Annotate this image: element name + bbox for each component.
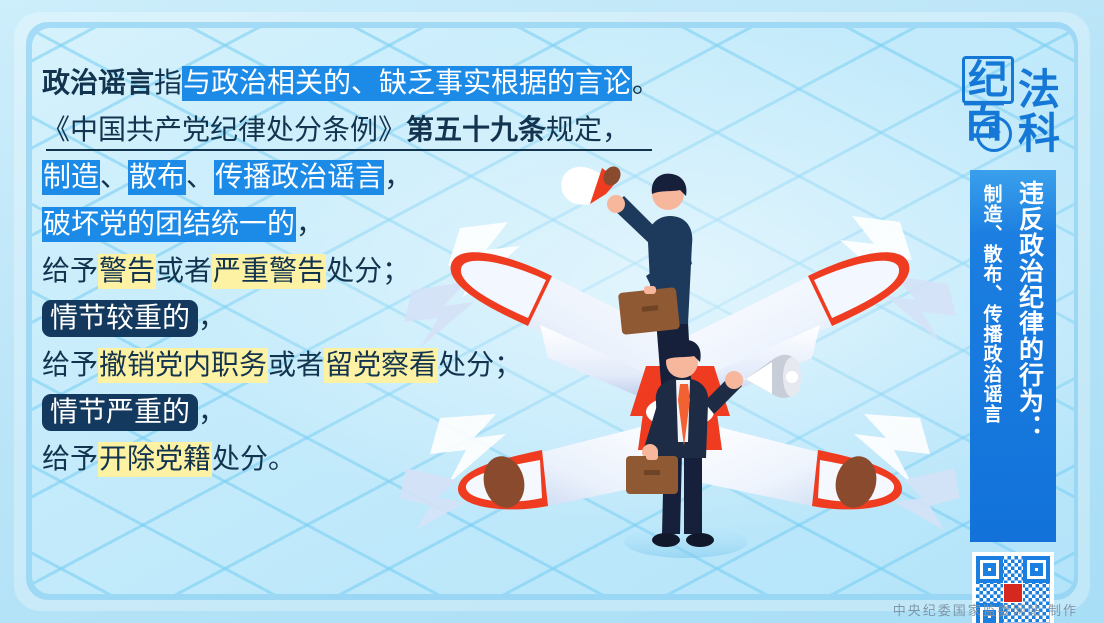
- vertical-banner: 违反政治纪律的行为： 制造、散布、传播政治谣言: [970, 170, 1056, 542]
- text-segment: 。: [632, 68, 660, 99]
- text-segment: 《中国共产党纪律处分条例》: [42, 115, 406, 146]
- text-segment: 、: [100, 162, 128, 193]
- text-segment: 给予: [42, 256, 98, 287]
- text-segment: 撤销党内职务: [98, 348, 268, 383]
- text-segment: 给予: [42, 444, 98, 475]
- poster-canvas: 政治谣言指与政治相关的、缺乏事实根据的言论。 《中国共产党纪律处分条例》第五十九…: [0, 0, 1104, 623]
- text-segment: 给予: [42, 350, 98, 381]
- text-segment: 、: [186, 162, 214, 193]
- text-line: 政治谣言指与政治相关的、缺乏事实根据的言论。: [42, 60, 662, 107]
- text-segment: ，: [198, 303, 226, 334]
- text-line: 《中国共产党纪律处分条例》第五十九条规定，: [42, 107, 662, 154]
- brand-logo[interactable]: 纪 法 百 科: [960, 52, 1064, 164]
- text-segment: 处分。: [212, 444, 296, 475]
- text-segment: 制造: [42, 160, 100, 195]
- right-rail: 纪 法 百 科 违反政治纪律的行为： 制造、散布、传播政治谣言: [952, 52, 1068, 572]
- text-segment: 或者: [268, 350, 324, 381]
- megaphone-illustration: [400, 150, 960, 570]
- text-segment: 第五十九条: [406, 115, 546, 146]
- banner-headline: 违反政治纪律的行为：: [1011, 180, 1047, 542]
- text-segment: 传播政治谣言: [214, 160, 384, 195]
- text-segment: 规定，: [546, 115, 630, 146]
- banner-subline: 制造、散布、传播政治谣言: [978, 180, 1005, 542]
- text-segment: ，: [198, 397, 226, 428]
- text-segment: 情节较重的: [42, 300, 198, 337]
- footer-credit: 中央纪委国家监委网站 制作: [893, 600, 1078, 619]
- text-segment: 严重警告: [212, 254, 326, 289]
- text-segment: 或者: [156, 256, 212, 287]
- text-segment: 破坏党的团结统一的: [42, 207, 296, 242]
- logo-char-fa: 法: [1018, 70, 1060, 112]
- text-segment: 指: [154, 68, 182, 99]
- text-segment: 政治谣言: [42, 68, 154, 99]
- text-segment: 处分；: [326, 256, 410, 287]
- text-segment: 与政治相关的、缺乏事实根据的言论: [182, 66, 632, 101]
- text-segment: 开除党籍: [98, 442, 212, 477]
- logo-char-ke: 科: [1018, 114, 1060, 156]
- text-segment: 散布: [128, 160, 186, 195]
- text-segment: ，: [296, 209, 324, 240]
- play-icon[interactable]: [976, 116, 1012, 152]
- text-segment: 警告: [98, 254, 156, 289]
- text-segment: 情节严重的: [42, 394, 198, 431]
